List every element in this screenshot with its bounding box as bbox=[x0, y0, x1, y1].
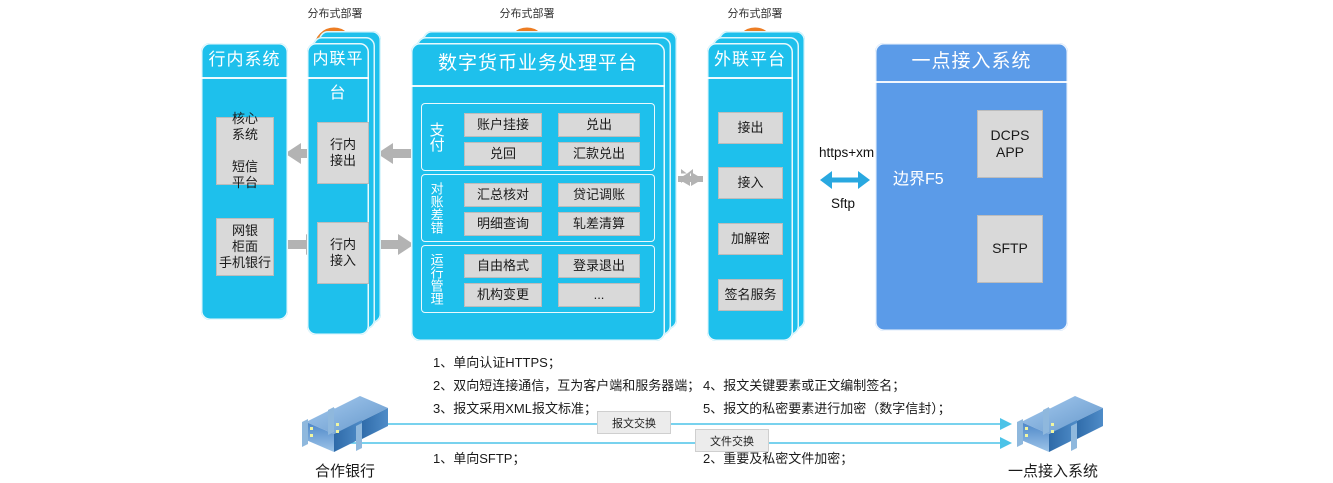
extranet-box-signature-service[interactable]: 签名服务 bbox=[718, 279, 783, 311]
dcep-item-detail-query[interactable]: 明细查询 bbox=[464, 212, 542, 236]
dcep-item-login-logout[interactable]: 登录退出 bbox=[558, 254, 640, 278]
intrabank-box-core-system[interactable]: 核心 系统 短信 平台 bbox=[216, 117, 274, 185]
note-left-bottom-1: 1、单向SFTP； bbox=[433, 448, 525, 467]
dcep-item-exchange-back[interactable]: 兑回 bbox=[464, 142, 542, 166]
extranet-box-encrypt-decrypt[interactable]: 加解密 bbox=[718, 223, 783, 255]
distributed-label-1: 分布式部署 bbox=[300, 5, 370, 21]
dcep-item-remittance-out[interactable]: 汇款兑出 bbox=[558, 142, 640, 166]
access-system-server-icon bbox=[1017, 396, 1103, 452]
note-left-top-1: 1、单向认证HTTPS； bbox=[433, 352, 561, 371]
intrabank-box-ebank-counter-mobile[interactable]: 网银 柜面 手机银行 bbox=[216, 218, 274, 276]
dcep-group-operations-label: 运行管理 bbox=[426, 248, 446, 310]
access-box-dcps-app[interactable]: DCPS APP bbox=[977, 110, 1043, 178]
partner-bank-server-icon bbox=[302, 396, 388, 452]
arrow-intranet-left-1 bbox=[377, 143, 414, 164]
distributed-label-2: 分布式部署 bbox=[492, 5, 562, 21]
server-caption-partner-bank: 合作银行 bbox=[285, 460, 405, 481]
arrow-intranet-right-1 bbox=[377, 234, 414, 255]
boundary-f5-label: 边界F5 bbox=[893, 165, 944, 189]
dcep-item-more[interactable]: ... bbox=[558, 283, 640, 307]
intranet-box-outbound[interactable]: 行内 接出 bbox=[317, 122, 369, 184]
note-left-top-3: 3、报文采用XML报文标准； bbox=[433, 398, 597, 417]
dcep-group-payment-label: 支付 bbox=[426, 106, 446, 168]
diagram-canvas: 分布式部署 分布式部署 分布式部署 行内系统 核心 系统 短信 平台 网银 柜面… bbox=[0, 0, 1333, 483]
dcep-group-reconciliation-label: 对账差错 bbox=[426, 177, 446, 239]
arrow-dcep-extranet bbox=[678, 169, 703, 186]
message-exchange-arrowhead-right bbox=[1000, 418, 1012, 430]
dcep-item-netting-settlement[interactable]: 轧差清算 bbox=[558, 212, 640, 236]
access-title: 一点接入系统 bbox=[875, 43, 1068, 83]
protocol-label-https-xml: https+xml bbox=[819, 145, 877, 160]
server-caption-access-system: 一点接入系统 bbox=[988, 460, 1118, 481]
dcep-item-exchange-out[interactable]: 兑出 bbox=[558, 113, 640, 137]
exchange-tag-message[interactable]: 报文交换 bbox=[597, 411, 671, 434]
exchange-tag-file[interactable]: 文件交换 bbox=[695, 429, 769, 452]
protocol-label-sftp: Sftp bbox=[831, 196, 855, 211]
distributed-label-3: 分布式部署 bbox=[720, 5, 790, 21]
column-intranet-platform[interactable]: 内联平台 bbox=[307, 43, 369, 335]
extranet-box-inbound[interactable]: 接入 bbox=[718, 167, 783, 199]
dcep-item-org-change[interactable]: 机构变更 bbox=[464, 283, 542, 307]
extranet-title: 外联平台 bbox=[707, 43, 793, 79]
dcep-item-free-format[interactable]: 自由格式 bbox=[464, 254, 542, 278]
dcep-item-summary-check[interactable]: 汇总核对 bbox=[464, 183, 542, 207]
access-box-sftp[interactable]: SFTP bbox=[977, 215, 1043, 283]
note-left-top-2: 2、双向短连接通信，互为客户端和服务器端； bbox=[433, 375, 700, 394]
dcep-title: 数字货币业务处理平台 bbox=[411, 43, 665, 87]
arrow-extranet-access bbox=[820, 171, 870, 189]
intranet-title: 内联平台 bbox=[307, 43, 369, 79]
intranet-box-inbound[interactable]: 行内 接入 bbox=[317, 222, 369, 284]
dcep-item-credit-adjust[interactable]: 贷记调账 bbox=[558, 183, 640, 207]
message-exchange-line bbox=[348, 418, 1008, 430]
intrabank-title: 行内系统 bbox=[201, 43, 288, 79]
note-right-top-5: 5、报文的私密要素进行加密（数字信封）； bbox=[703, 398, 951, 417]
dcep-item-account-link[interactable]: 账户挂接 bbox=[464, 113, 542, 137]
note-right-top-4: 4、报文关键要素或正文编制签名； bbox=[703, 375, 905, 394]
extranet-box-outbound[interactable]: 接出 bbox=[718, 112, 783, 144]
